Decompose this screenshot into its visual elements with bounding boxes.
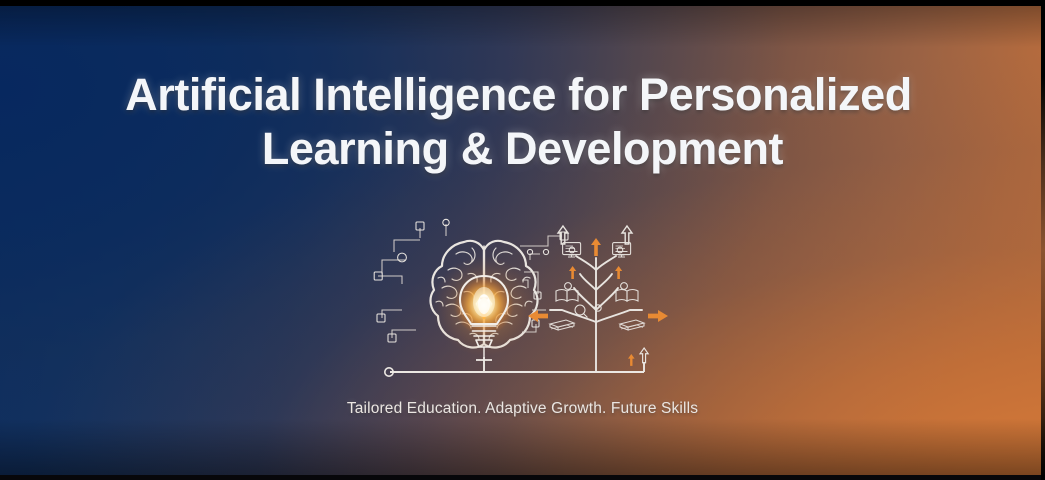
monitor-icon-right (613, 243, 631, 257)
right-edge-bar (1041, 0, 1045, 480)
bottom-edge-bar (0, 475, 1045, 480)
arrow-up-growth-accent (628, 354, 635, 366)
arrow-right-accent (648, 310, 668, 322)
hero-illustration (372, 214, 677, 394)
open-book-icon-right (616, 290, 638, 302)
knowledge-tree (550, 256, 642, 372)
stacked-books-icon-right (620, 320, 644, 330)
presentation-slide: Artificial Intelligence for Personalized… (0, 0, 1045, 480)
stacked-books-icon-left (550, 320, 574, 330)
arrow-up-left-accent (569, 266, 576, 279)
open-book-icon-left (556, 290, 578, 302)
arrow-up-center-accent (591, 238, 601, 256)
monitor-icon-left (563, 243, 581, 257)
baseline (390, 357, 644, 372)
tagline: Tailored Education. Adaptive Growth. Fut… (0, 400, 1045, 418)
arrow-up-right-accent (615, 266, 622, 279)
arrow-up-growth-outline (640, 348, 648, 363)
arrow-up-outline-right (622, 226, 632, 244)
top-edge-bar (0, 0, 1045, 6)
